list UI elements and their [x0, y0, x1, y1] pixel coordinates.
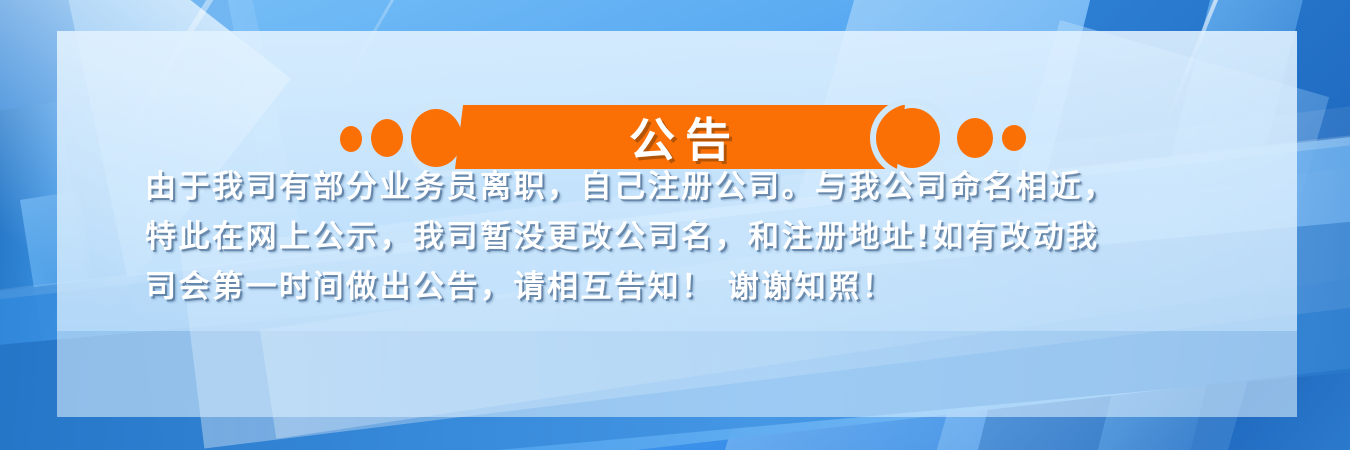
- background-streak-left-2: [20, 191, 145, 450]
- notice-body: 由于我司有部分业务员离职，自己注册公司。与我公司命名相近， 特此在网上公示，我司…: [145, 162, 1255, 312]
- notice-line: 由于我司有部分业务员离职，自己注册公司。与我公司命名相近，: [145, 162, 1255, 212]
- banner-title-row: 公告: [0, 52, 1350, 122]
- notice-line: 特此在网上公示，我司暂没更改公司名，和注册地址!如有改动我: [145, 212, 1255, 262]
- notice-line: 司会第一时间做出公告，请相互告知！ 谢谢知照！: [145, 262, 1255, 312]
- page-title: 公告: [455, 105, 905, 169]
- background-streak-left-1: [0, 101, 140, 450]
- decor-dot-left-small: [340, 126, 362, 152]
- decor-dot-left-medium: [371, 119, 403, 157]
- announcement-banner: 公告 由于我司有部分业务员离职，自己注册公司。与我公司命名相近， 特此在网上公示…: [0, 0, 1350, 450]
- decor-dot-right-small: [1002, 125, 1026, 151]
- decor-dot-right-medium: [957, 118, 993, 158]
- decor-dot-right-large: [884, 108, 940, 168]
